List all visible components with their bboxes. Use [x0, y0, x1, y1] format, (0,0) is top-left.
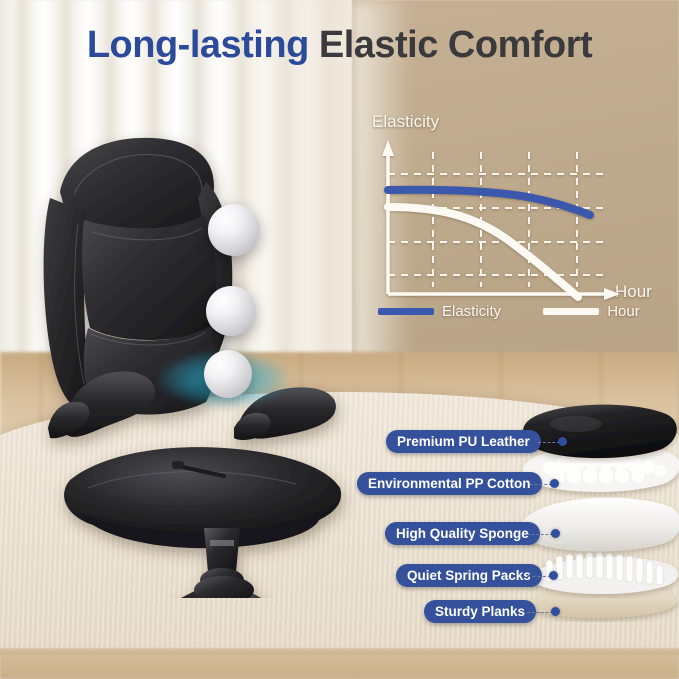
- chair-base: [106, 576, 330, 598]
- layer-sponge: [521, 498, 679, 552]
- callout-connector-planks: [527, 612, 553, 614]
- callout-dot-pu-leather: [558, 437, 567, 446]
- legend-label-hour: Hour: [607, 303, 640, 320]
- product-marketing-image: Long-lasting Elastic Comfort Elasticity …: [0, 0, 679, 679]
- bounce-sphere-bottom: [204, 350, 252, 398]
- legend-swatch-hour: [543, 308, 599, 315]
- office-chair-photo: [28, 128, 358, 598]
- chart-legend: Elasticity Hour: [378, 300, 668, 322]
- headline-part2-text: Elastic Comfort: [319, 24, 592, 66]
- callout-connector-pp-cotton: [530, 484, 552, 486]
- bounce-sphere-middle: [206, 286, 256, 336]
- chart-series-hour: [388, 207, 578, 297]
- headline-part2: Elastic Comfort: [319, 24, 592, 67]
- callout-connector-spring-packs: [527, 576, 551, 578]
- callout-dot-sponge: [551, 529, 560, 538]
- layer-pu-leather: [523, 405, 677, 458]
- callout-label-pu-leather[interactable]: Premium PU Leather: [386, 430, 541, 453]
- callout-dot-planks: [551, 607, 560, 616]
- floor-strip: [0, 654, 679, 679]
- bounce-sphere-top: [208, 204, 260, 256]
- callout-dot-spring-packs: [549, 571, 558, 580]
- callout-label-sponge[interactable]: High Quality Sponge: [385, 522, 540, 545]
- headline: Long-lasting Elastic Comfort: [0, 24, 679, 67]
- chart-plot: [368, 112, 663, 317]
- callout-label-spring-packs[interactable]: Quiet Spring Packs: [396, 564, 542, 587]
- legend-label-elasticity: Elasticity: [442, 303, 501, 320]
- legend-swatch-elasticity: [378, 308, 434, 315]
- chair-gas-cylinder: [204, 528, 240, 572]
- callout-label-pp-cotton[interactable]: Environmental PP Cotton: [357, 472, 542, 495]
- chair-backrest-upper: [82, 214, 216, 340]
- callout-connector-sponge: [527, 534, 553, 536]
- callout-dot-pp-cotton: [550, 479, 559, 488]
- chart-gridlines-vertical: [433, 152, 577, 287]
- callout-connector-pu-leather: [538, 442, 560, 444]
- headline-part1: Long-lasting: [87, 24, 309, 66]
- elasticity-chart: Elasticity Hour: [368, 112, 663, 317]
- callout-label-planks[interactable]: Sturdy Planks: [424, 600, 536, 623]
